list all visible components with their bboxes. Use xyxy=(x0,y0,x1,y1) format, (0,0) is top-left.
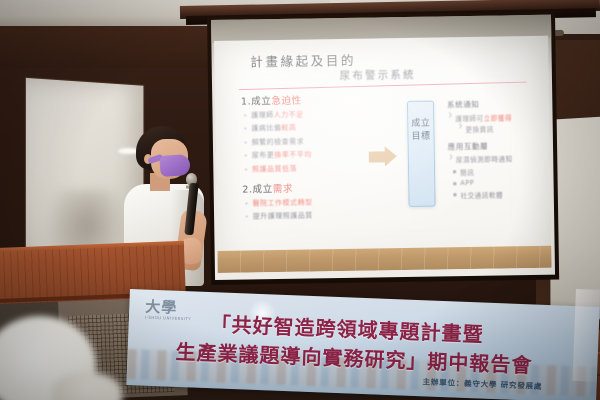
face-mask xyxy=(159,154,190,177)
arrow-head xyxy=(385,146,397,166)
section-1-prefix: 成立 xyxy=(251,96,271,107)
bullet-highlight: 較高 xyxy=(281,124,296,132)
right-group-2-heading: 應用互動層 xyxy=(448,140,544,153)
right-group-1-heading: 系統通知 xyxy=(447,98,543,111)
section-2-prefix: 成立 xyxy=(253,184,273,195)
bullet-text: 頻繁的檢查需求 xyxy=(252,137,305,146)
slide-subtitle: 尿布警示系統 xyxy=(339,67,415,83)
bullet-text: 尿布更 xyxy=(252,151,275,159)
right-group-1-sub: 護理師可立即獲得 xyxy=(455,111,543,122)
section-2-highlight: 需求 xyxy=(273,183,293,194)
slide-right-column: 系統通知 護理師可立即獲得 更換資訊 應用互動層 尿濕偵測即時通知 簡訊 APP… xyxy=(447,98,545,202)
slide-left-column: 1.成立急迫性 護理師人力不足 護病比偏較高 頻繁的檢查需求 尿布更換率不平均 … xyxy=(241,92,369,225)
sub-highlight: 立即獲得 xyxy=(484,114,512,122)
bullet-text: 護病比偏 xyxy=(251,124,281,132)
section-1-heading: 1.成立急迫性 xyxy=(241,92,367,108)
arrow-body xyxy=(369,151,386,162)
right-list-item: 社交通訊軟體 xyxy=(460,188,544,199)
right-list-item: APP xyxy=(460,178,544,187)
banner-edge-fold xyxy=(572,289,600,382)
event-banner: 大學 I-SHOU UNIVERSITY 「共好智造跨領域專題計畫暨 生產業議題… xyxy=(126,289,599,400)
section-1-highlight: 急迫性 xyxy=(271,96,301,107)
projected-slide: 計畫緣起及目的 尿布警示系統 1.成立急迫性 護理師人力不足 護病比偏較高 頻繁… xyxy=(214,36,552,273)
right-group-2-sub: 尿濕偵測即時通知 xyxy=(456,153,544,164)
right-list-item: 簡訊 xyxy=(460,166,544,177)
bullet-item: 尿布更換率不平均 xyxy=(252,149,368,161)
university-logo-subtitle: I-SHOU UNIVERSITY xyxy=(145,315,191,322)
sub-text: 護理師可 xyxy=(455,114,483,122)
bullet-highlight: 換率不平均 xyxy=(274,151,312,160)
title-divider xyxy=(239,82,527,91)
bullet-item: 護理師人力不足 xyxy=(251,109,367,121)
bullet-highlight: 人力不足 xyxy=(274,111,304,119)
lecture-hall-photo: 計畫緣起及目的 尿布警示系統 1.成立急迫性 護理師人力不足 護病比偏較高 頻繁… xyxy=(0,0,600,400)
bullet-item: 醫院工作模式轉型 xyxy=(252,196,368,208)
bullet-item: 提升護理照護品質 xyxy=(253,210,369,222)
bullet-text: 護理師 xyxy=(251,111,274,119)
bullet-item: 照護品質低落 xyxy=(252,162,368,174)
section-1-number: 1. xyxy=(241,96,251,107)
section-2-heading: 2.成立需求 xyxy=(242,179,368,195)
section-2-number: 2. xyxy=(242,184,252,195)
bullet-item: 護病比偏較高 xyxy=(251,122,367,134)
right-group-1-cont: 更換資訊 xyxy=(465,123,543,134)
goal-box: 成立目標 xyxy=(407,101,436,207)
bullet-item: 頻繁的檢查需求 xyxy=(252,135,368,147)
goal-box-label: 成立目標 xyxy=(408,118,433,144)
